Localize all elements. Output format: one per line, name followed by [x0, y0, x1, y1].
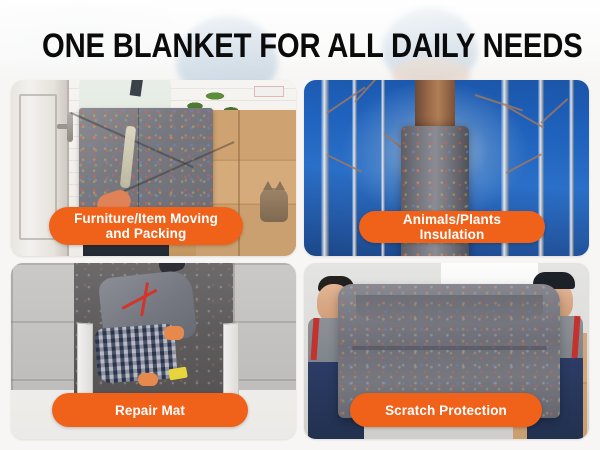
feature-card-grid: Furniture/Item Moving and Packing	[11, 80, 589, 439]
white-panel-right	[223, 322, 239, 401]
birch-tree	[321, 80, 329, 256]
worker-glove	[138, 373, 158, 386]
card-label-scratch-protection: Scratch Protection	[350, 393, 542, 427]
card-label-repair-mat: Repair Mat	[52, 393, 248, 427]
sofa-seat-line	[352, 346, 548, 350]
card-label-animals-plants-insulation: Animals/Plants Insulation	[359, 211, 545, 243]
worker-glove	[164, 326, 184, 340]
poster-header: ONE BLANKET FOR ALL DAILY NEEDS	[0, 0, 600, 80]
birch-tree	[569, 80, 574, 256]
blanket-fold-line	[138, 108, 140, 210]
overall-red-stripe	[122, 289, 158, 310]
promo-poster: ONE BLANKET FOR ALL DAILY NEEDS	[0, 0, 600, 450]
box-label-tag	[254, 86, 284, 97]
page-title: ONE BLANKET FOR ALL DAILY NEEDS	[42, 26, 558, 66]
feature-card-animals-plants-insulation[interactable]: Animals/Plants Insulation	[304, 80, 589, 256]
tree-trunk-top	[415, 80, 455, 132]
kneeling-worker	[91, 263, 216, 391]
feature-card-repair-mat[interactable]: Repair Mat	[11, 263, 296, 439]
folded-moving-blanket	[79, 108, 213, 210]
cat-icon	[260, 188, 288, 222]
feature-card-furniture-moving[interactable]: Furniture/Item Moving and Packing	[11, 80, 296, 256]
blanket-drape-shadow	[356, 295, 543, 324]
tape-measure-icon	[168, 366, 188, 380]
card-label-furniture-moving: Furniture/Item Moving and Packing	[49, 207, 243, 245]
feature-card-scratch-protection[interactable]: Scratch Protection	[304, 263, 589, 439]
